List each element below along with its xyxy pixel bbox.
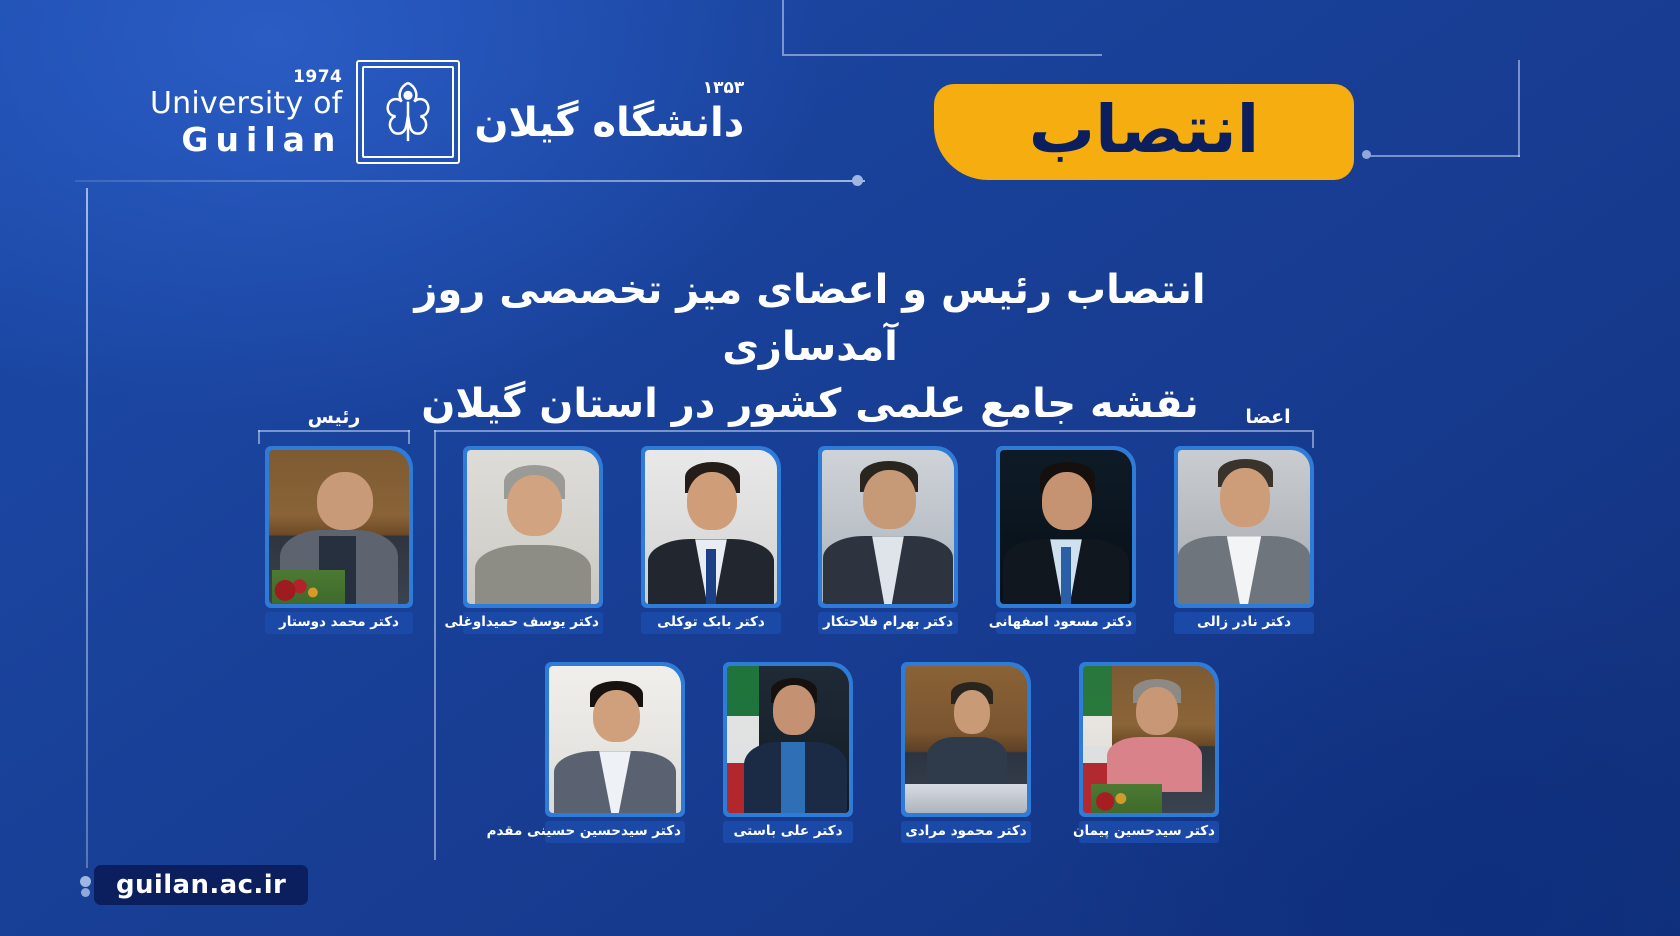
person-photo-frame <box>265 446 413 608</box>
decor-members-bracket-left <box>434 430 436 860</box>
appointment-badge: انتصاب <box>934 84 1354 180</box>
decor-dot-url-connector <box>80 876 91 887</box>
person-photo-light-studio-portrait <box>549 666 681 813</box>
person-card-member-1: دکتر یوسف حمیداوغلی <box>463 446 603 634</box>
decor-right-horizontal-line <box>1368 155 1520 157</box>
person-photo-frame <box>641 446 781 608</box>
website-url-badge[interactable]: guilan.ac.ir <box>94 865 308 905</box>
person-photo-lecture-hall-portrait <box>905 666 1027 813</box>
logo-name-fa: دانشگاه گیلان <box>474 100 744 146</box>
logo-persian-text: ۱۳۵۳ دانشگاه گیلان <box>474 78 744 146</box>
person-card-member-9: دکتر سیدحسین پیمان <box>1079 662 1219 843</box>
person-photo-frame <box>901 662 1031 817</box>
website-url-text: guilan.ac.ir <box>116 870 286 900</box>
decor-top-horizontal-line <box>782 54 1102 56</box>
title-line-2: نقشه جامع علمی کشور در استان گیلان <box>340 376 1280 433</box>
university-logo: 1974 University of Guilan ۱۳۵۳ دانشگاه گ… <box>150 60 744 164</box>
decor-logo-rule <box>75 180 865 182</box>
person-name-member-3: دکتر بهرام فلاحتکار <box>818 612 958 634</box>
section-label-chair: رئیس <box>258 406 410 428</box>
person-name-member-7: دکتر علی باستی <box>723 821 853 843</box>
decor-dot-left-bottom <box>81 888 90 897</box>
logo-line2-en: Guilan <box>181 123 342 156</box>
person-card-member-4: دکتر مسعود اصفهانی <box>996 446 1136 634</box>
person-photo-grey-suit-portrait <box>1178 450 1310 604</box>
person-photo-flag-background-portrait <box>727 666 849 813</box>
person-photo-dark-suit-portrait <box>822 450 954 604</box>
section-label-members: اعضا <box>1222 406 1314 428</box>
decor-dot-logo-rule <box>852 175 863 186</box>
person-name-member-2: دکتر بابک توکلی <box>641 612 781 634</box>
logo-founding-year-en: 1974 <box>293 69 342 86</box>
person-name-member-8: دکتر محمود مرادی <box>901 821 1031 843</box>
person-photo-frame <box>545 662 685 817</box>
person-photo-podium-portrait <box>269 450 409 604</box>
logo-line1-en: University of <box>150 89 342 119</box>
decor-dot-right <box>1362 150 1371 159</box>
guilan-university-emblem-icon <box>356 60 460 164</box>
logo-english-text: 1974 University of Guilan <box>150 69 342 156</box>
person-card-chair: دکتر محمد دوستار <box>265 446 413 634</box>
person-name-member-4: دکتر مسعود اصفهانی <box>996 612 1136 634</box>
person-photo-frame <box>818 446 958 608</box>
person-photo-frame <box>723 662 853 817</box>
decor-top-vertical-line <box>782 0 784 54</box>
title-line-1: انتصاب رئیس و اعضای میز تخصصی روز آمدساز… <box>340 262 1280 376</box>
person-name-member-1: دکتر یوسف حمیداوغلی <box>463 612 603 634</box>
person-photo-studio-portrait <box>467 450 599 604</box>
person-photo-navy-suit-portrait <box>645 450 777 604</box>
person-photo-frame <box>463 446 603 608</box>
person-card-member-7: دکتر علی باستی <box>723 662 853 843</box>
person-photo-frame <box>996 446 1136 608</box>
person-card-member-6: دکتر سیدحسین حسینی مقدم <box>545 662 685 843</box>
person-name-chair: دکتر محمد دوستار <box>265 612 413 634</box>
page-title: انتصاب رئیس و اعضای میز تخصصی روز آمدساز… <box>340 262 1280 432</box>
decor-chair-bracket-left <box>258 430 260 444</box>
person-card-member-5: دکتر نادر زالی <box>1174 446 1314 634</box>
person-card-member-2: دکتر بابک توکلی <box>641 446 781 634</box>
person-name-member-5: دکتر نادر زالی <box>1174 612 1314 634</box>
person-photo-podium-flag-portrait <box>1083 666 1215 813</box>
appointment-badge-label: انتصاب <box>1029 97 1259 163</box>
person-name-member-6: دکتر سیدحسین حسینی مقدم <box>545 821 685 843</box>
person-photo-frame <box>1079 662 1219 817</box>
person-photo-dark-background-portrait <box>1000 450 1132 604</box>
person-photo-frame <box>1174 446 1314 608</box>
person-card-member-8: دکتر محمود مرادی <box>901 662 1031 843</box>
decor-left-vertical-rule <box>86 188 88 868</box>
poster-canvas: 1974 University of Guilan ۱۳۵۳ دانشگاه گ… <box>0 0 1680 936</box>
person-card-member-3: دکتر بهرام فلاحتکار <box>818 446 958 634</box>
logo-founding-year-fa: ۱۳۵۳ <box>703 78 745 98</box>
person-name-member-9: دکتر سیدحسین پیمان <box>1079 821 1219 843</box>
decor-right-vertical-line <box>1518 60 1520 157</box>
